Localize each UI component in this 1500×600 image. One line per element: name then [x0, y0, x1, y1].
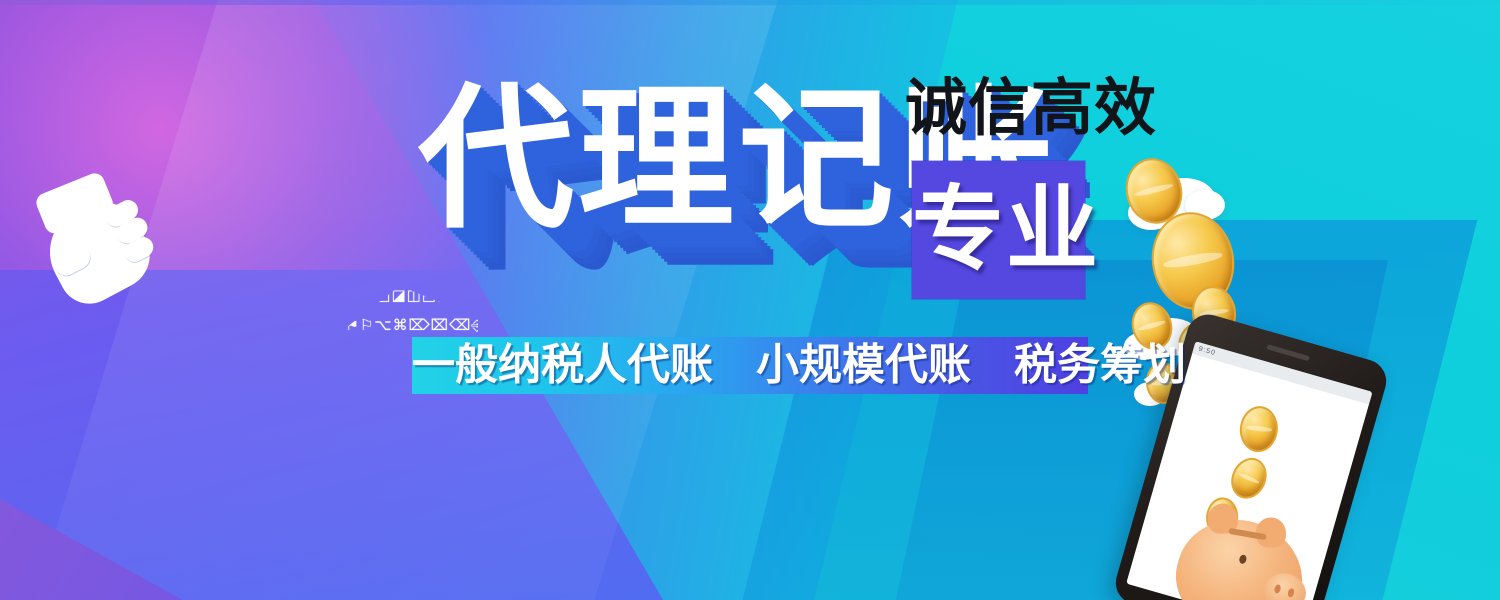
piggy-nostril-right — [1287, 588, 1295, 598]
megaphone-cone: ☰▤▥▦▧▨▩■□▢▣◧◨◩◪◫⬒⬓⬔⬕▰▱⬛⬜☗☖⌂⌗⌸⌹⌺⌻⌼⌽⌾⌿⍀⍁⍂⍃… — [188, 286, 478, 546]
piggy-eye — [1238, 554, 1247, 565]
badge-professional: 专业 — [912, 161, 1085, 299]
services-bar-label: 一般纳税人代账 小规模代账 税务筹划 — [412, 344, 1088, 387]
megaphone-icon-mosaic: ☰▤▥▦▧▨▩■□▢▣◧◨◩◪◫⬒⬓⬔⬕▰▱⬛⬜☗☖⌂⌗⌸⌹⌺⌻⌼⌽⌾⌿⍀⍁⍂⍃… — [188, 286, 478, 546]
screen-coin-2 — [1225, 452, 1273, 504]
services-bar: 一般纳税人代账 小规模代账 税务筹划 — [412, 337, 1088, 394]
kicker-text: 诚信高效 — [905, 78, 1157, 140]
piggy-nostril-left — [1273, 584, 1281, 594]
megaphone-icon: ☰▤▥▦▧▨▩■□▢▣◧◨◩◪◫⬒⬓⬔⬕▰▱⬛⬜☗☖⌂⌗⌸⌹⌺⌻⌼⌽⌾⌿⍀⍁⍂⍃… — [188, 286, 478, 546]
piggy-snout — [1260, 569, 1310, 600]
banner-root: ☰▤▥▦▧▨▩■□▢▣◧◨◩◪◫⬒⬓⬔⬕▰▱⬛⬜☗☖⌂⌗⌸⌹⌺⌻⌼⌽⌾⌿⍀⍁⍂⍃… — [0, 0, 1500, 600]
screen-coin-1 — [1238, 404, 1281, 454]
phone-speaker — [1266, 344, 1310, 361]
background-top-strip — [0, 0, 1500, 5]
badge-professional-label: 专业 — [912, 184, 1085, 276]
piggy-bank-icon — [1164, 505, 1316, 600]
